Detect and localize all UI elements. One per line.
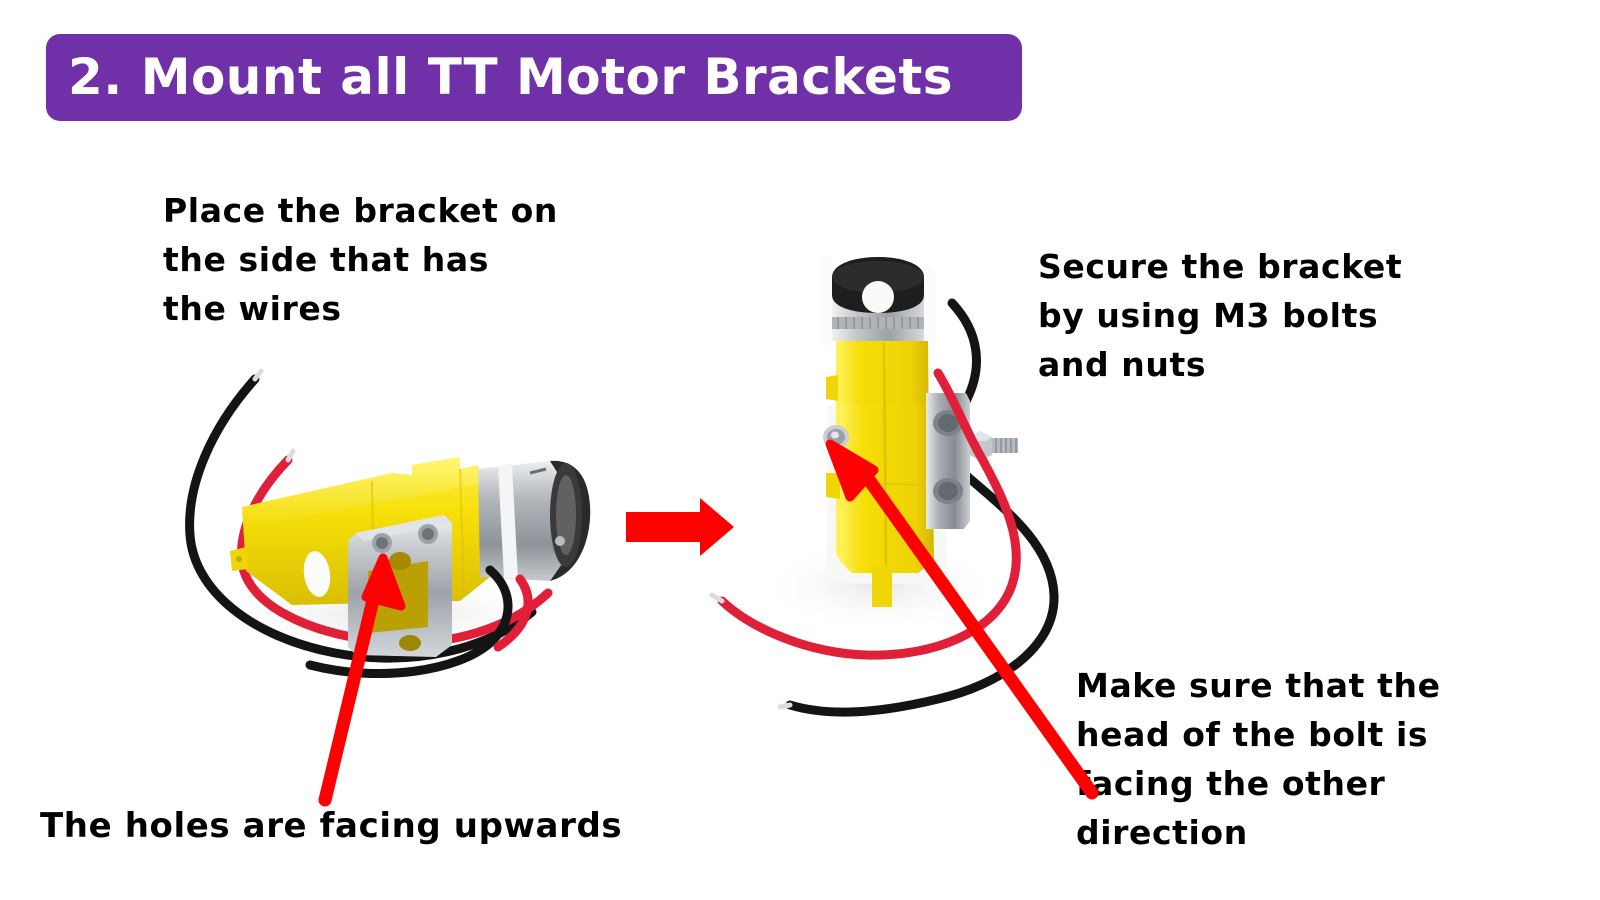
photo-motor-flat xyxy=(160,365,600,710)
annotation-holes-facing-upwards: The holes are facing upwards xyxy=(40,802,622,851)
annotation-secure-bracket: Secure the bracket by using M3 bolts and… xyxy=(1038,242,1402,389)
motor-bracket-flat xyxy=(348,515,452,657)
bolt-head xyxy=(823,425,849,449)
motor-flat-illustration xyxy=(160,365,600,710)
motor-can-flat xyxy=(478,461,590,581)
page-title: 2. Mount all TT Motor Brackets xyxy=(68,47,953,105)
motor-can-upright xyxy=(820,255,936,345)
slide-title-bar: 2. Mount all TT Motor Brackets xyxy=(46,34,1022,121)
annotation-place-bracket: Place the bracket on the side that has t… xyxy=(163,186,558,333)
annotation-bolt-head-direction: Make sure that the head of the bolt is f… xyxy=(1076,661,1441,857)
